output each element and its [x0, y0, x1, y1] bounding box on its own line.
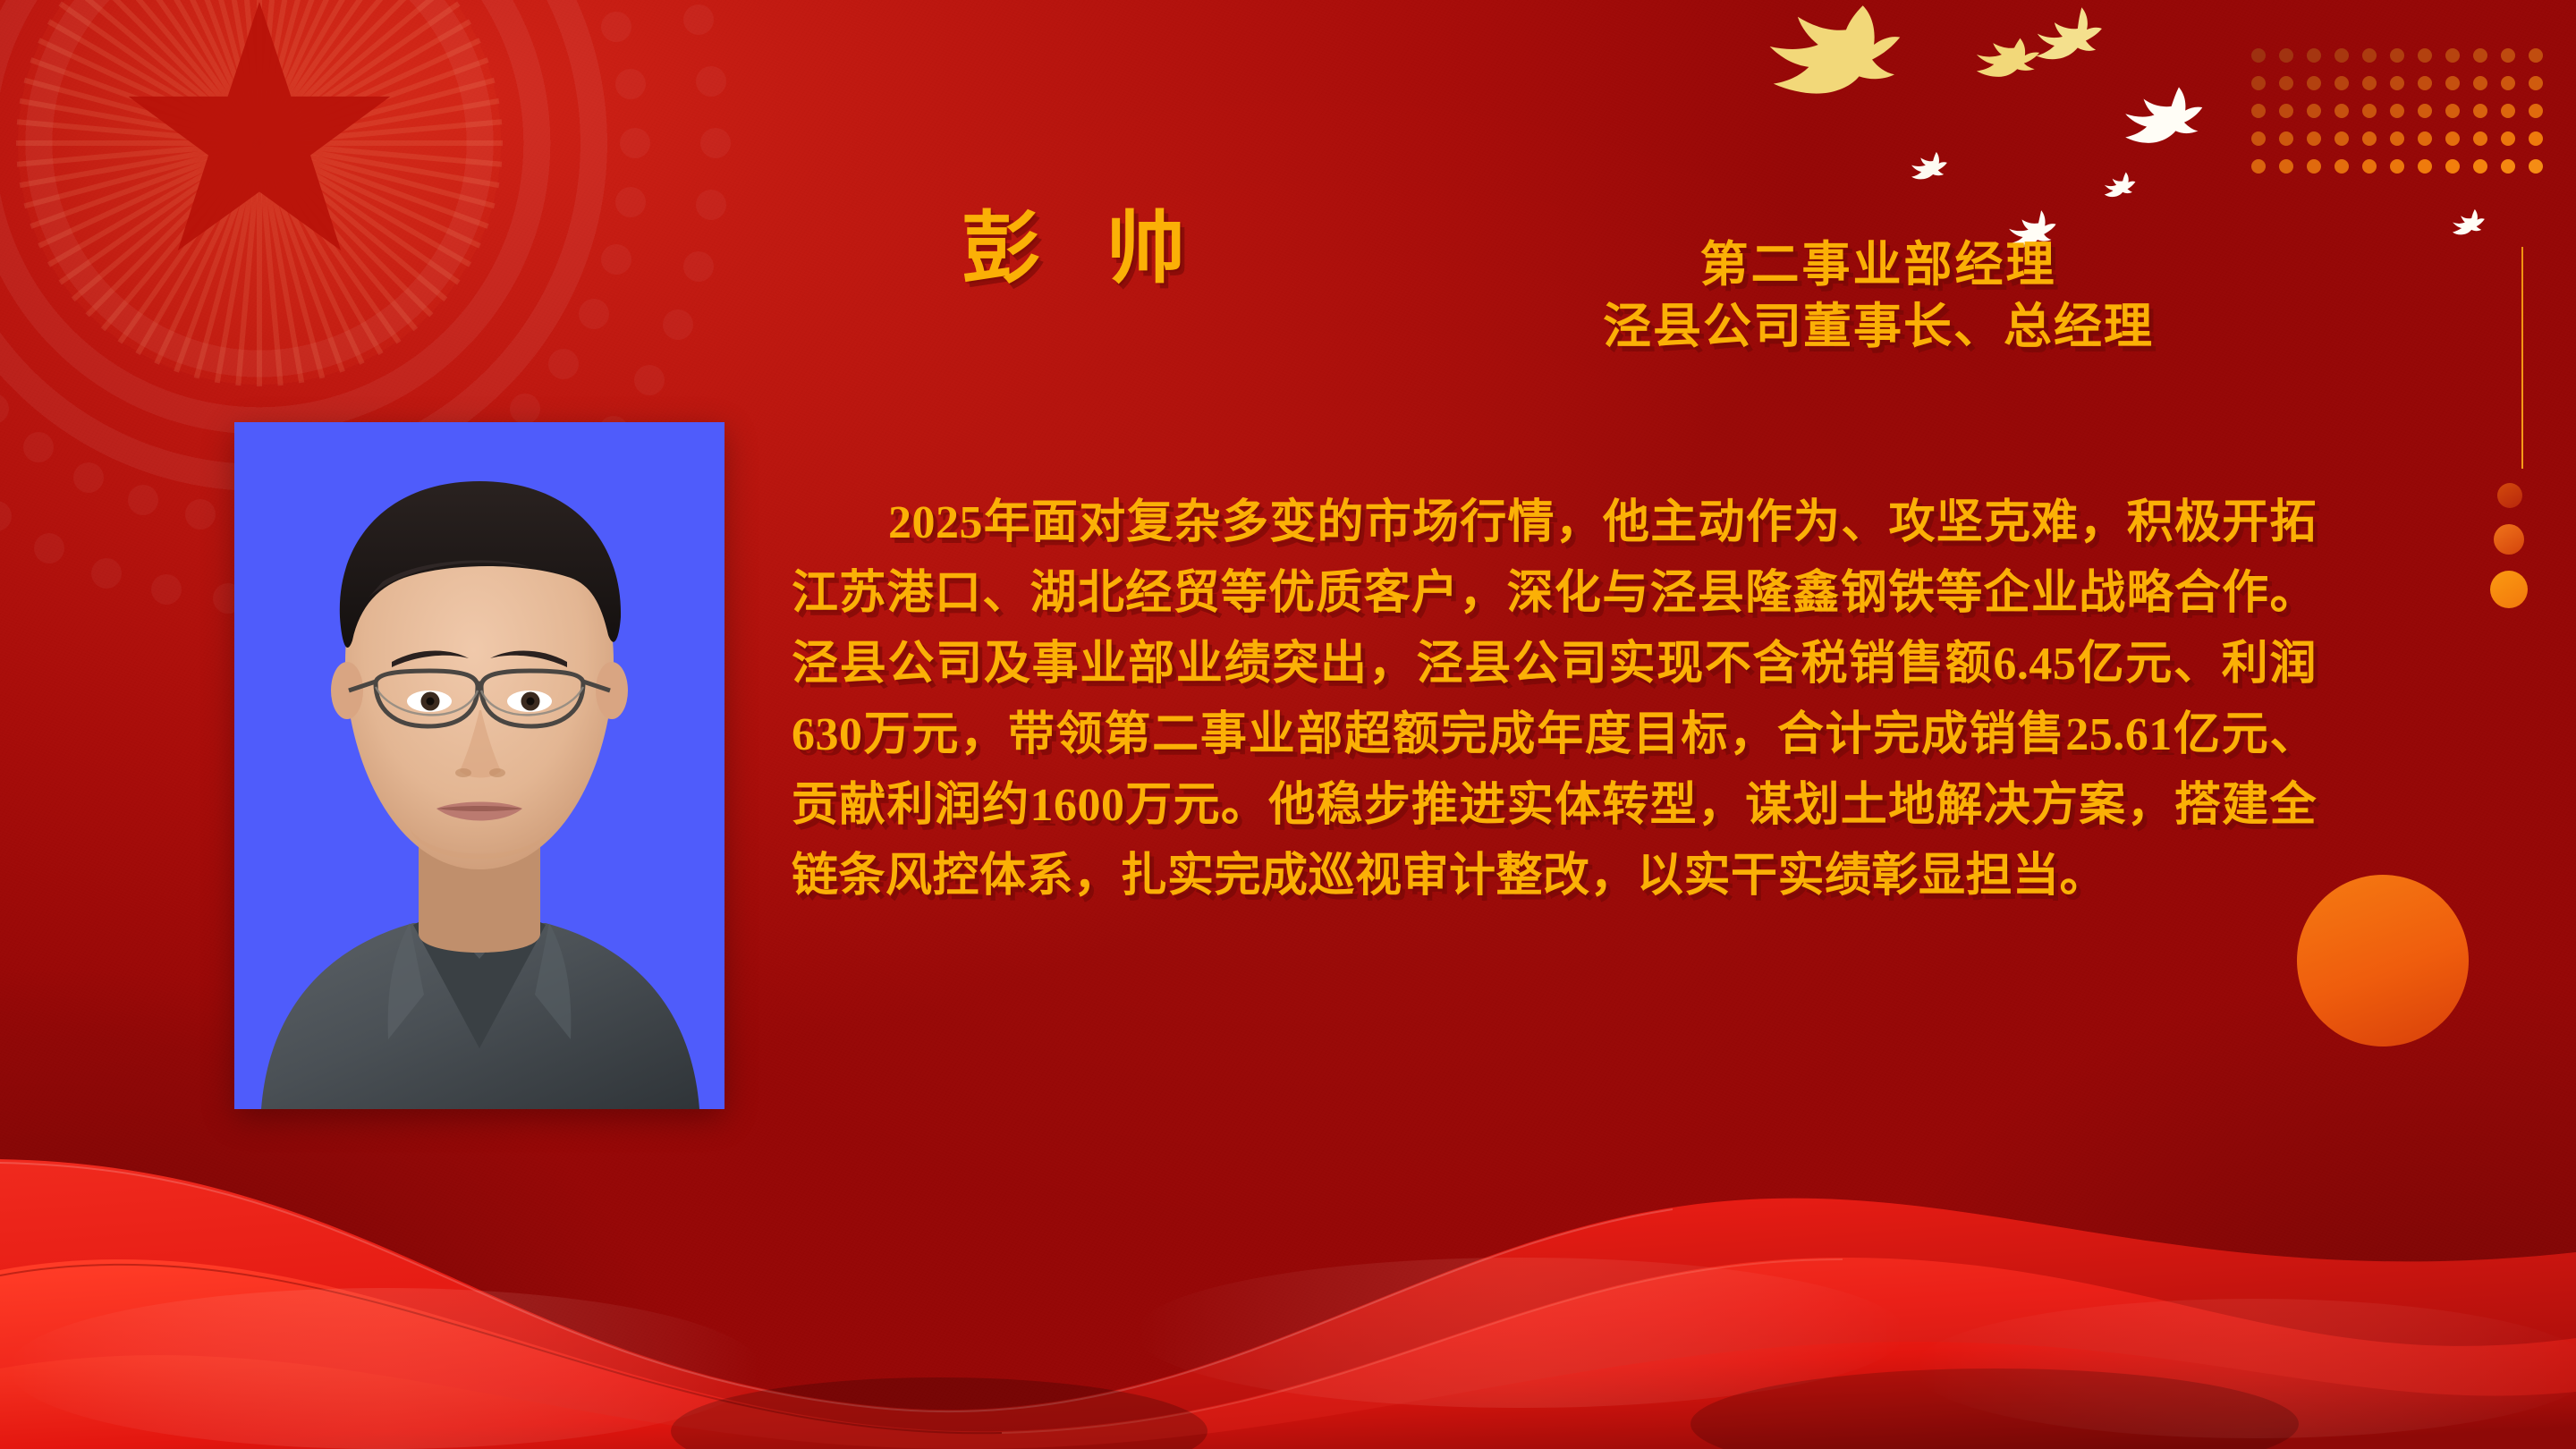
grid-dot [2501, 76, 2515, 90]
grid-dot [2362, 104, 2377, 118]
grid-dot [2279, 159, 2293, 174]
page-title: 彭 帅 [962, 208, 1208, 294]
grid-dot [2529, 76, 2543, 90]
dove-icon-gold-large [1755, 2, 1941, 136]
grid-dot [2362, 131, 2377, 146]
dove-icon-white-tiny-b [2103, 170, 2146, 211]
grid-dot [2334, 48, 2349, 63]
slide-canvas: 彭 帅 第二事业部经理 泾县公司董事长、总经理 2025年面对复杂多变的市场行情… [0, 0, 2576, 1449]
grid-dot [2251, 76, 2266, 90]
dove-icon-white-large [2120, 85, 2227, 173]
emblem-dot [510, 394, 540, 424]
emblem-dot [23, 432, 54, 462]
achievement-description: 2025年面对复杂多变的市场行情，他主动作为、攻坚克难，积极开拓江苏港口、湖北经… [792, 487, 2317, 911]
grid-dot [2251, 48, 2266, 63]
emblem-dot [91, 558, 122, 589]
position-title-secondary: 泾县公司董事长、总经理 [1431, 296, 2326, 358]
grid-dot [2473, 48, 2487, 63]
grid-dot [2445, 76, 2460, 90]
grid-dot [2473, 159, 2487, 174]
emblem-dot [548, 349, 579, 379]
grid-dot [2445, 48, 2460, 63]
emblem-dot [601, 244, 631, 275]
emblem-dot [185, 499, 216, 530]
grid-dot [2251, 159, 2266, 174]
grid-dot [2418, 76, 2432, 90]
grid-dot [2418, 104, 2432, 118]
accent-bead-3 [2490, 571, 2528, 608]
emblem-dot [700, 128, 731, 158]
vertical-accent-line [2521, 247, 2523, 469]
emblem-dot [683, 251, 714, 282]
emblem-dot [615, 187, 646, 217]
grid-dot [2501, 48, 2515, 63]
grid-dot [2307, 159, 2321, 174]
grid-dot [2334, 104, 2349, 118]
grid-dot [2501, 131, 2515, 146]
grid-dot [2501, 104, 2515, 118]
grid-dot [2445, 131, 2460, 146]
grid-dot [2307, 48, 2321, 63]
grid-dot [2529, 159, 2543, 174]
emblem-dot [0, 394, 9, 424]
grid-dot [2279, 76, 2293, 90]
dove-icon-gold-medium [2032, 5, 2125, 84]
grid-dot [2390, 48, 2404, 63]
grid-dot [2529, 104, 2543, 118]
grid-dot [2529, 48, 2543, 63]
grid-dot [2473, 104, 2487, 118]
grid-dot [2334, 159, 2349, 174]
grid-dot [2362, 48, 2377, 63]
grid-dot [2251, 131, 2266, 146]
dot-grid-decoration [2251, 48, 2556, 187]
silk-ribbon-decoration [0, 1073, 2576, 1449]
grid-dot [2390, 76, 2404, 90]
grid-dot [2390, 104, 2404, 118]
large-orange-circle-decoration [2297, 875, 2469, 1046]
grid-dot [2390, 131, 2404, 146]
grid-dot [2418, 48, 2432, 63]
dove-icon-white-tiny-a [1910, 150, 1960, 195]
emblem-dot [615, 69, 646, 99]
grid-dot [2307, 104, 2321, 118]
portrait-photo [234, 422, 724, 1109]
grid-dot [2279, 104, 2293, 118]
grid-dot [2334, 76, 2349, 90]
grid-dot [2529, 131, 2543, 146]
emblem-dot [696, 66, 726, 97]
grid-dot [2473, 76, 2487, 90]
position-titles: 第二事业部经理 泾县公司董事长、总经理 [1431, 234, 2326, 358]
accent-bead-2 [2494, 524, 2524, 555]
grid-dot [2334, 131, 2349, 146]
grid-dot [2418, 131, 2432, 146]
emblem-dot [663, 309, 693, 340]
accent-bead-1 [2497, 483, 2522, 508]
emblem-dot [579, 299, 609, 329]
grid-dot [2307, 76, 2321, 90]
grid-dot [2279, 131, 2293, 146]
grid-dot [2390, 159, 2404, 174]
position-title-primary: 第二事业部经理 [1431, 234, 2326, 296]
grid-dot [2279, 48, 2293, 63]
grid-dot [2362, 159, 2377, 174]
grid-dot [2445, 159, 2460, 174]
dove-icon-white-corner [2451, 208, 2495, 249]
emblem-dot [34, 533, 64, 563]
grid-dot [2307, 131, 2321, 146]
emblem-dot [620, 128, 650, 158]
grid-dot [2445, 104, 2460, 118]
grid-dot [2501, 159, 2515, 174]
grid-dot [2362, 76, 2377, 90]
emblem-dot [634, 365, 665, 395]
grid-dot [2418, 159, 2432, 174]
grid-dot [2473, 131, 2487, 146]
grid-dot [2251, 104, 2266, 118]
